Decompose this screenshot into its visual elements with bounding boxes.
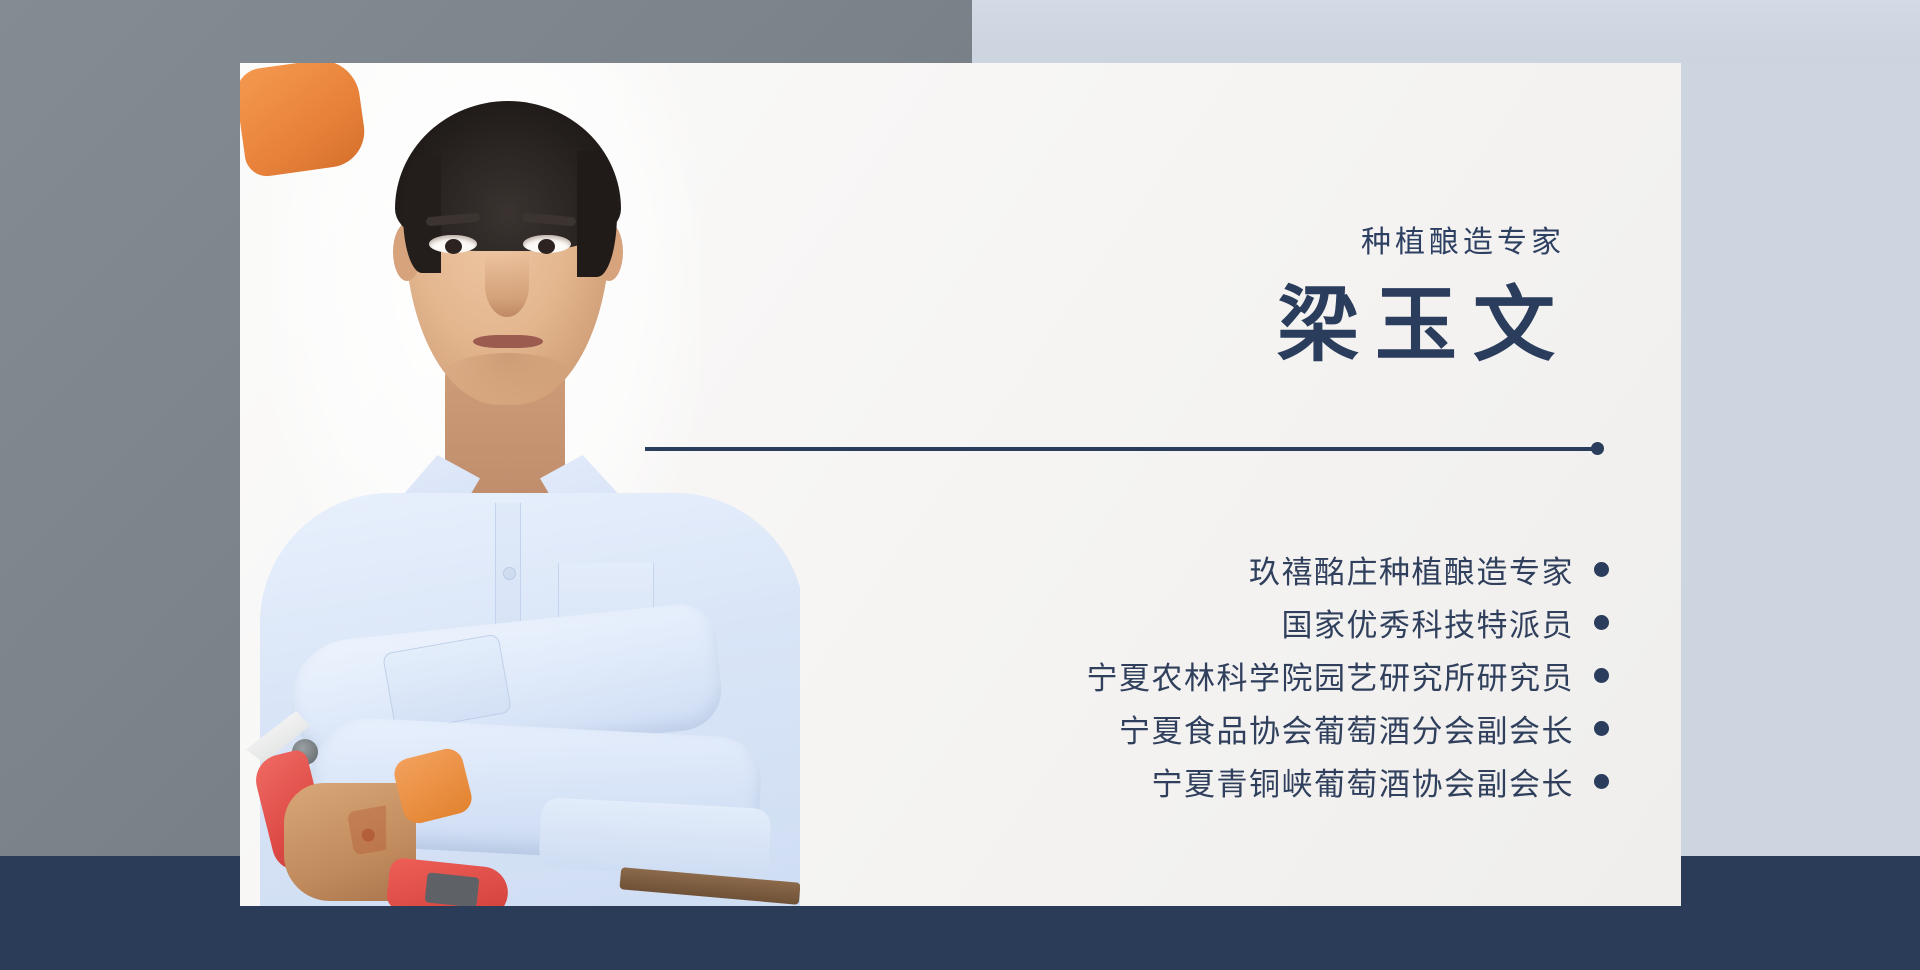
bullet-dot-icon [1594, 668, 1609, 683]
pruning-shear-label [425, 872, 480, 906]
shirt-button-1 [504, 568, 515, 579]
bullet-dot-icon [1594, 721, 1609, 736]
divider-end-dot-icon [1591, 442, 1604, 455]
credential-label: 玖禧酩庄种植酿造专家 [1249, 547, 1574, 592]
credential-label: 宁夏青铜峡葡萄酒协会副会长 [1152, 759, 1575, 804]
portrait-chin-shadow [440, 353, 575, 401]
portrait-pupil-right [538, 239, 555, 254]
list-item: 宁夏农林科学院园艺研究所研究员 [849, 649, 1609, 702]
expert-subtitle: 种植酿造专家 [1361, 217, 1565, 261]
poster-stage: 种植酿造专家 梁玉文 玖禧酩庄种植酿造专家 国家优秀科技特派员 宁夏农林科学院园… [0, 0, 1920, 970]
credential-label: 宁夏农林科学院园艺研究所研究员 [1087, 653, 1575, 698]
credential-label: 宁夏食品协会葡萄酒分会副会长 [1119, 706, 1574, 751]
bullet-dot-icon [1594, 562, 1609, 577]
list-item: 国家优秀科技特派员 [849, 596, 1609, 649]
portrait-pupil-left [445, 239, 462, 254]
expert-name: 梁玉文 [1277, 258, 1571, 377]
sleeve-fold [538, 797, 771, 879]
portrait-mouth [473, 335, 543, 348]
bullet-dot-icon [1594, 615, 1609, 630]
credential-label: 国家优秀科技特派员 [1282, 600, 1575, 645]
list-item: 宁夏青铜峡葡萄酒协会副会长 [849, 755, 1609, 808]
profile-card: 种植酿造专家 梁玉文 玖禧酩庄种植酿造专家 国家优秀科技特派员 宁夏农林科学院园… [240, 63, 1681, 906]
expert-portrait-image [240, 63, 800, 906]
divider-line [645, 447, 1601, 451]
bullet-dot-icon [1594, 774, 1609, 789]
list-item: 宁夏食品协会葡萄酒分会副会长 [849, 702, 1609, 755]
credentials-list: 玖禧酩庄种植酿造专家 国家优秀科技特派员 宁夏农林科学院园艺研究所研究员 宁夏食… [849, 543, 1609, 808]
portrait-nose [485, 253, 529, 317]
list-item: 玖禧酩庄种植酿造专家 [849, 543, 1609, 596]
